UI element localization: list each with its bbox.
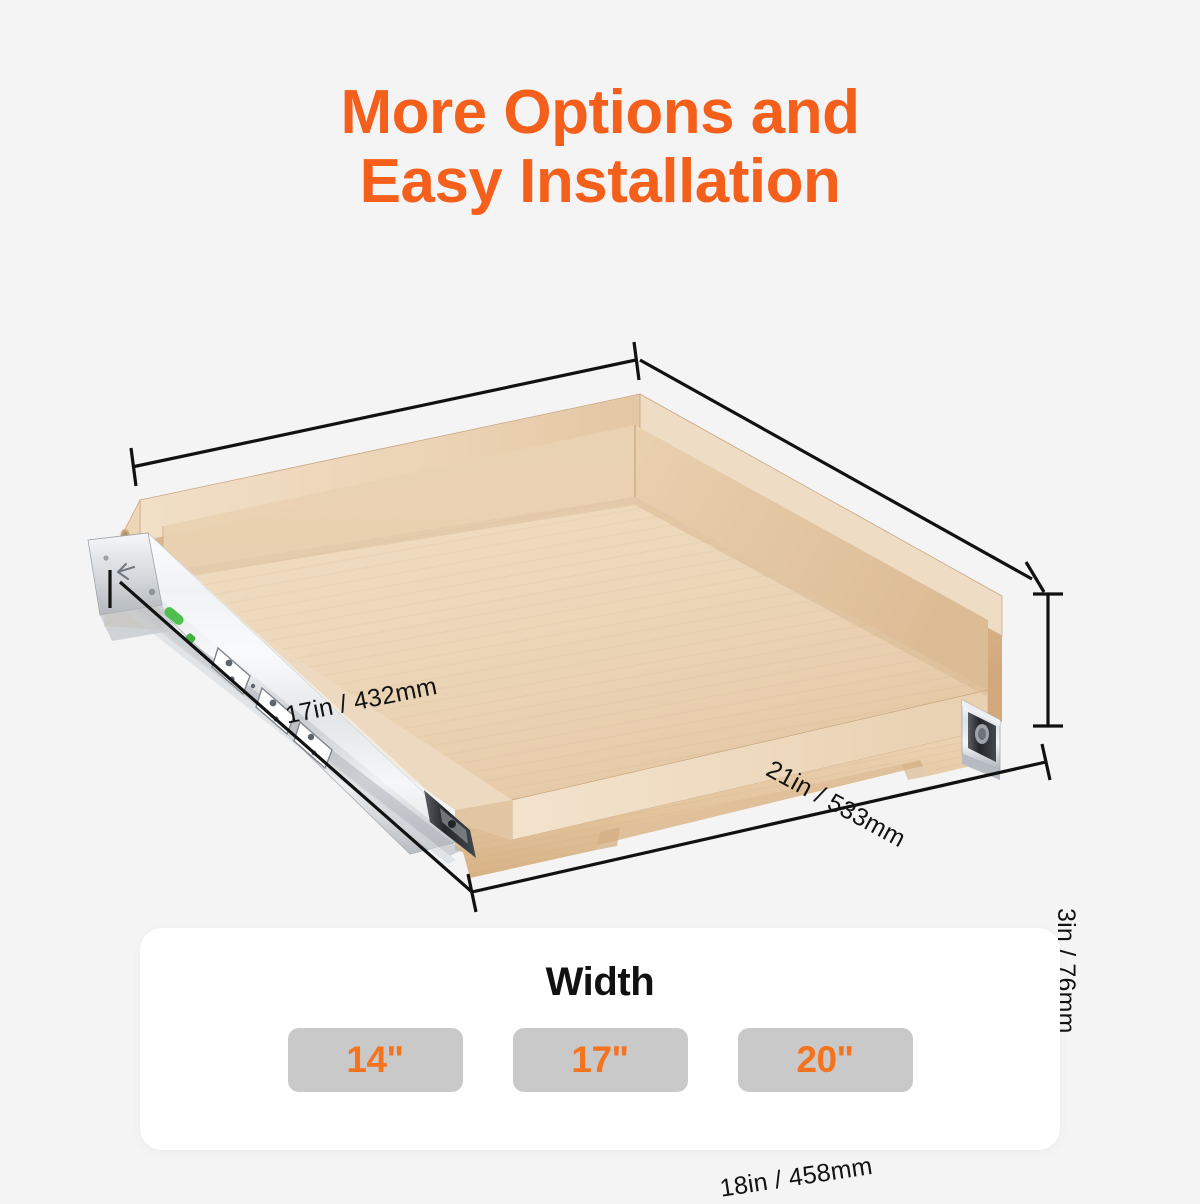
- page-title: More Options and Easy Installation: [0, 78, 1200, 217]
- width-chip-14[interactable]: 14": [288, 1028, 463, 1092]
- drawer-diagram-svg: [0, 330, 1200, 930]
- width-chip-label: 14": [346, 1039, 403, 1081]
- width-chip-17[interactable]: 17": [513, 1028, 688, 1092]
- headline-line-1: More Options and: [341, 78, 860, 147]
- product-illustration: 17in / 432mm 21in / 533mm 3in / 76mm 21.…: [0, 330, 1200, 930]
- headline-line-2: Easy Installation: [0, 147, 1200, 216]
- width-chip-list: 14" 17" 20": [140, 1028, 1060, 1092]
- infographic-stage: More Options and Easy Installation: [0, 0, 1200, 1200]
- dimension-label-bottom-width: 18in / 458mm: [718, 1152, 874, 1204]
- width-chip-label: 20": [796, 1039, 853, 1081]
- width-chip-label: 17": [571, 1039, 628, 1081]
- width-options-card: Width 14" 17" 20": [140, 928, 1060, 1150]
- width-section-title: Width: [140, 960, 1060, 1005]
- width-chip-20[interactable]: 20": [738, 1028, 913, 1092]
